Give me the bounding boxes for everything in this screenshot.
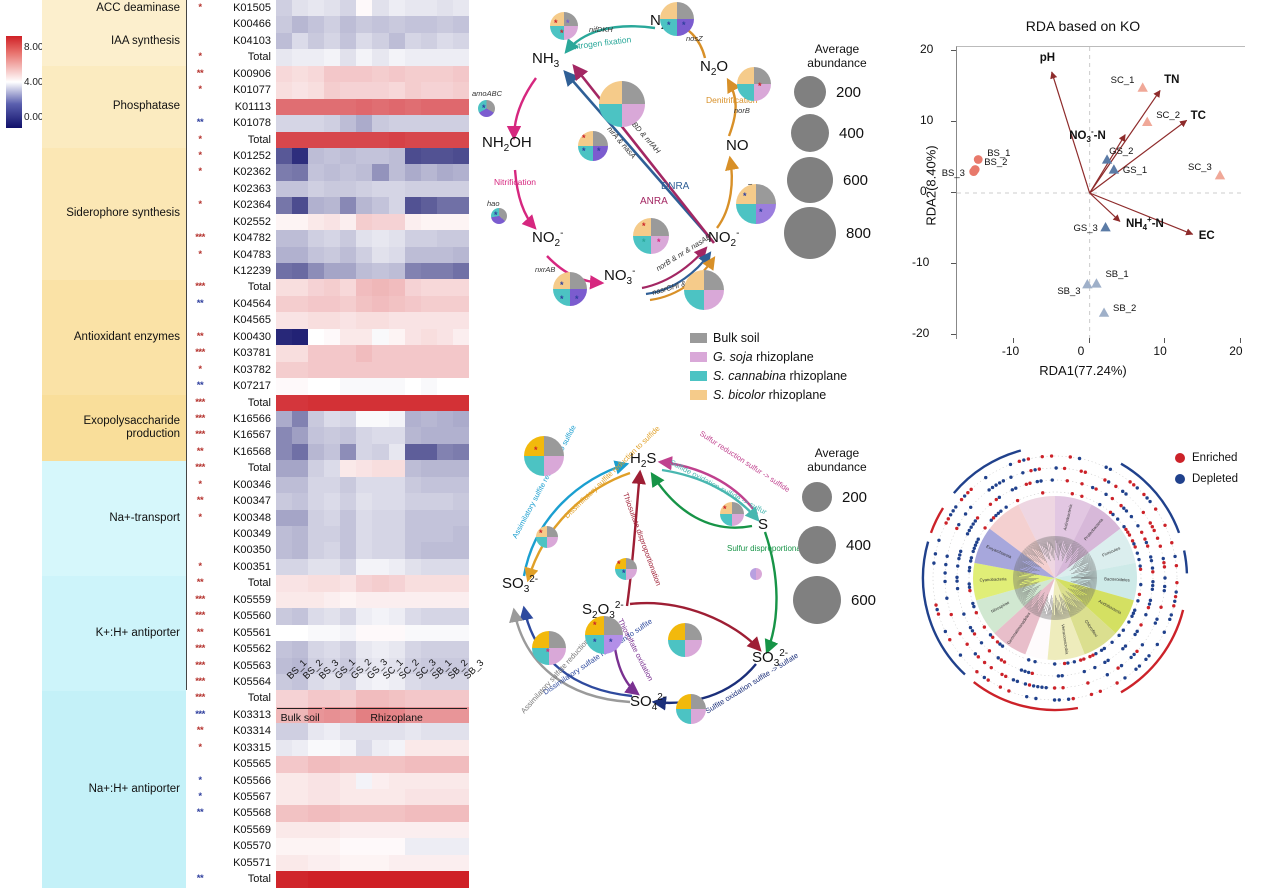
- taxa-color-swatch: [690, 333, 707, 343]
- star-marker: *: [642, 238, 646, 247]
- circ-depleted-dot: [1027, 658, 1030, 661]
- heatmap-cell: [292, 789, 308, 805]
- heatmap-cell: [340, 575, 356, 591]
- heatmap-cell: [340, 132, 356, 148]
- circ-enriched-dot: [1153, 529, 1156, 532]
- rda-sample-point[interactable]: [1091, 278, 1101, 287]
- heatmap-cell: [453, 822, 469, 838]
- heatmap-cell: [389, 575, 405, 591]
- circ-enriched-dot: [960, 498, 963, 501]
- heatmap-cell: [292, 99, 308, 115]
- heatmap-cell: [308, 345, 324, 361]
- heatmap-cell: [276, 66, 292, 82]
- significance-marker: *: [186, 740, 214, 756]
- heatmap-cell: [292, 871, 308, 887]
- star-marker: *: [617, 560, 621, 569]
- circ-depleted-dot: [977, 538, 980, 541]
- heatmap-cell: [389, 740, 405, 756]
- significance-marker: **: [186, 329, 214, 345]
- heatmap-cell: [389, 542, 405, 558]
- circ-depleted-dot: [1136, 599, 1139, 602]
- heatmap-cell: [356, 592, 372, 608]
- circ-depleted-dot: [1024, 682, 1027, 685]
- heatmap-cell: [372, 773, 388, 789]
- heatmap-cell: [356, 132, 372, 148]
- heatmap-cell: [340, 247, 356, 263]
- heatmap-group-na-transport: Na+-transport: [42, 461, 186, 576]
- heatmap-cell: [292, 822, 308, 838]
- circ-enriched-dot: [988, 649, 991, 652]
- heatmap-cell: [372, 263, 388, 279]
- heatmap-cell: [308, 871, 324, 887]
- heatmap-significance-column: ****************************************…: [186, 0, 214, 888]
- heatmap-cell: [340, 362, 356, 378]
- circ-depleted-dot: [1134, 668, 1137, 671]
- circ-enriched-dot: [975, 670, 978, 673]
- ko-label: K04783: [212, 247, 274, 263]
- heatmap-cell: [324, 641, 340, 657]
- circ-depleted-dot: [1033, 660, 1036, 663]
- heatmap-cell: [324, 756, 340, 772]
- heatmap-row: [276, 510, 469, 526]
- significance-marker: *: [186, 197, 214, 213]
- heatmap-cell: [372, 723, 388, 739]
- heatmap-cell: [421, 608, 437, 624]
- heatmap-row: [276, 477, 469, 493]
- circ-depleted-dot: [1110, 641, 1113, 644]
- ko-label: K05569: [212, 822, 274, 838]
- heatmap-cell: [340, 49, 356, 65]
- sulfur-cycle-diagram: H2S S SO32- SO32- S2O32- SO42- Assimilat…: [462, 408, 902, 728]
- significance-marker: [186, 16, 214, 32]
- heatmap-cell: [308, 460, 324, 476]
- heatmap-cell: [324, 838, 340, 854]
- circ-enriched-dot: [1025, 483, 1028, 486]
- circ-depleted-dot: [989, 633, 992, 636]
- heatmap-cell: [340, 723, 356, 739]
- heatmap-cell: [276, 263, 292, 279]
- heatmap-cell: [340, 740, 356, 756]
- circ-depleted-dot: [1034, 697, 1037, 700]
- circ-enriched-dot: [1007, 689, 1010, 692]
- significance-marker: *: [186, 247, 214, 263]
- circ-depleted-dot: [1106, 673, 1109, 676]
- heatmap-cell: [356, 230, 372, 246]
- significance-marker: *: [186, 148, 214, 164]
- heatmap-row: [276, 296, 469, 312]
- significance-marker: *: [186, 362, 214, 378]
- heatmap-cell: [437, 66, 453, 82]
- heatmap-cell: [421, 411, 437, 427]
- heatmap-cell: [405, 427, 421, 443]
- rda-sample-label: SB_2: [1113, 303, 1136, 314]
- heatmap-cell: [405, 99, 421, 115]
- heatmap-cell: [389, 362, 405, 378]
- rda-sample-point[interactable]: [1215, 170, 1225, 179]
- circ-depleted-dot: [1139, 583, 1142, 586]
- heatmap-cell: [356, 164, 372, 180]
- significance-marker: [186, 33, 214, 49]
- circ-depleted-dot: [1100, 649, 1103, 652]
- heatmap-cell: [356, 526, 372, 542]
- heatmap-cell: [389, 230, 405, 246]
- heatmap-cell: [356, 0, 372, 16]
- circ-enriched-dot: [948, 638, 951, 641]
- rda-sample-point[interactable]: [969, 167, 978, 176]
- abundance-value: 200: [836, 84, 861, 101]
- heatmap-cell: [308, 641, 324, 657]
- heatmap-cell: [405, 493, 421, 509]
- heatmap-cell: [437, 493, 453, 509]
- circ-depleted-dot: [1162, 557, 1165, 560]
- rda-sample-point[interactable]: [1137, 82, 1147, 91]
- heatmap-cell: [308, 411, 324, 427]
- heatmap-cell: [308, 49, 324, 65]
- circ-enriched-dot: [1082, 657, 1085, 660]
- circ-depleted-dot: [1168, 618, 1171, 621]
- heatmap-cell: [372, 378, 388, 394]
- heatmap-cell: [308, 542, 324, 558]
- ko-label: K01077: [212, 82, 274, 98]
- node-nh3: NH3: [532, 50, 559, 70]
- circ-depleted-dot: [1133, 633, 1136, 636]
- heatmap-cell: [340, 148, 356, 164]
- circ-depleted-dot: [1036, 685, 1039, 688]
- rda-sample-label: GS_1: [1123, 165, 1147, 176]
- star-marker: *: [560, 295, 564, 304]
- rda-sample-label: SB_3: [1057, 286, 1080, 297]
- circ-enriched-dot: [1071, 492, 1074, 495]
- heatmap-cell: [405, 838, 421, 854]
- heatmap-cell: [372, 805, 388, 821]
- heatmap-cell: [276, 0, 292, 16]
- ko-label: K00466: [212, 16, 274, 32]
- heatmap-cell: [308, 16, 324, 32]
- circ-depleted-dot: [994, 483, 997, 486]
- circ-depleted-dot: [1155, 618, 1158, 621]
- circ-depleted-dot: [1009, 476, 1012, 479]
- star-marker: *: [593, 638, 597, 647]
- circ-legend-depleted: Depleted: [1175, 473, 1238, 485]
- significance-marker: ***: [186, 427, 214, 443]
- heatmap-cell: [308, 164, 324, 180]
- heatmap-row: [276, 838, 469, 854]
- significance-marker: [186, 214, 214, 230]
- heatmap-cell: [292, 296, 308, 312]
- circ-depleted-dot: [1136, 551, 1139, 554]
- heatmap-row: [276, 559, 469, 575]
- heatmap-cell: [389, 345, 405, 361]
- heatmap-cell: [308, 510, 324, 526]
- pie-sulfite-ox: [676, 694, 706, 724]
- pie-sulfur-disp: [750, 568, 762, 580]
- star-marker: *: [657, 238, 661, 247]
- heatmap-cell: [372, 395, 388, 411]
- circ-enriched-dot: [1172, 604, 1175, 607]
- heatmap-cell: [276, 625, 292, 641]
- rda-xtick: 20: [1229, 344, 1242, 358]
- heatmap-cell: [308, 197, 324, 213]
- circ-depleted-dot: [984, 476, 987, 479]
- heatmap-cell: [340, 0, 356, 16]
- circ-enriched-dot: [1126, 530, 1129, 533]
- heatmap-cell: [437, 756, 453, 772]
- heatmap-cell: [421, 115, 437, 131]
- ko-label: K05567: [212, 789, 274, 805]
- ko-total-label: Total: [212, 460, 274, 476]
- heatmap-cell: [340, 395, 356, 411]
- heatmap-cell: [389, 822, 405, 838]
- heatmap-cell: [356, 723, 372, 739]
- heatmap-cell: [276, 411, 292, 427]
- heatmap-cell: [276, 740, 292, 756]
- heatmap-cell: [356, 789, 372, 805]
- heatmap-cell: [389, 723, 405, 739]
- heatmap-cell: [292, 279, 308, 295]
- circ-enriched-dot: [1038, 467, 1041, 470]
- heatmap-cell: [437, 164, 453, 180]
- significance-marker: [186, 181, 214, 197]
- circ-enriched-dot: [977, 655, 980, 658]
- heatmap-cell: [324, 411, 340, 427]
- circ-depleted-dot: [1145, 496, 1148, 499]
- heatmap-cell: [437, 197, 453, 213]
- heatmap-cell: [324, 559, 340, 575]
- circ-depleted-dot: [1132, 653, 1135, 656]
- ko-total-label: Total: [212, 132, 274, 148]
- heatmap-cell: [437, 559, 453, 575]
- heatmap-cell: [276, 378, 292, 394]
- ko-label: K07217: [212, 378, 274, 394]
- circ-enriched-dot: [995, 498, 998, 501]
- pie-amoabc: [478, 100, 495, 117]
- heatmap-cell: [276, 247, 292, 263]
- heatmap-cell: [276, 641, 292, 657]
- heatmap-cell: [292, 362, 308, 378]
- heatmap-cell: [276, 132, 292, 148]
- ko-label: K05560: [212, 608, 274, 624]
- heatmap-cell: [389, 559, 405, 575]
- pie-thiosulfate-ox: [668, 623, 702, 657]
- circ-depleted-dot: [1151, 584, 1154, 587]
- heatmap-cell: [340, 871, 356, 887]
- rda-sample-point[interactable]: [1100, 222, 1110, 231]
- heatmap-cell: [308, 625, 324, 641]
- heatmap-row: [276, 164, 469, 180]
- taxa-legend-item: S. bicolor rhizoplane: [690, 385, 900, 404]
- circ-depleted-dot: [1094, 652, 1097, 655]
- heatmap-cell: [308, 132, 324, 148]
- colorbar-tick-high: 8.00: [24, 42, 43, 53]
- rda-sample-point[interactable]: [974, 155, 983, 164]
- heatmap-cell: [405, 510, 421, 526]
- abundance-value: 600: [843, 172, 868, 189]
- heatmap-cell: [276, 575, 292, 591]
- process-anra: ANRA: [640, 196, 668, 207]
- ko-label: K00430: [212, 329, 274, 345]
- heatmap-cell: [292, 115, 308, 131]
- circ-enriched-dot: [934, 603, 937, 606]
- heatmap-cell: [421, 296, 437, 312]
- ko-label: K03315: [212, 740, 274, 756]
- heatmap-cell: [324, 214, 340, 230]
- abundance-dot: [793, 576, 841, 624]
- rda-sample-point[interactable]: [1142, 117, 1152, 126]
- circ-enriched-dot: [1143, 537, 1146, 540]
- heatmap-cell: [292, 608, 308, 624]
- circ-enriched-dot: [1080, 495, 1083, 498]
- heatmap-cell: [340, 99, 356, 115]
- circ-depleted-dot: [956, 587, 959, 590]
- heatmap-cell: [372, 575, 388, 591]
- circ-depleted-dot: [1039, 479, 1042, 482]
- rda-xaxis-title: RDA1(77.24%): [898, 363, 1268, 378]
- heatmap-cell: [324, 526, 340, 542]
- circ-enriched-dot: [975, 611, 978, 614]
- ko-label: K16567: [212, 427, 274, 443]
- heatmap-cell: [276, 214, 292, 230]
- circ-depleted-dot: [1121, 490, 1124, 493]
- ko-label: K05563: [212, 658, 274, 674]
- heatmap-cell: [389, 181, 405, 197]
- ko-label: K03782: [212, 362, 274, 378]
- significance-marker: **: [186, 115, 214, 131]
- rda-sample-point[interactable]: [1099, 307, 1109, 316]
- heatmap-cell: [356, 559, 372, 575]
- heatmap-cell: [421, 477, 437, 493]
- heatmap-cell: [421, 263, 437, 279]
- circ-depleted-dot: [1083, 670, 1086, 673]
- heatmap-cell: [340, 411, 356, 427]
- heatmap-cell: [324, 312, 340, 328]
- heatmap-cell: [340, 477, 356, 493]
- taxa-color-swatch: [690, 352, 707, 362]
- ko-label: K03313: [212, 707, 274, 723]
- significance-marker: *: [186, 773, 214, 789]
- column-group-bar: [325, 708, 467, 709]
- heatmap-cell: [308, 230, 324, 246]
- star-marker: *: [667, 21, 671, 30]
- circ-depleted-dot: [1173, 555, 1176, 558]
- heatmap-cell: [324, 99, 340, 115]
- heatmap-cell: [276, 197, 292, 213]
- circ-depleted-dot: [1163, 589, 1166, 592]
- heatmap-cell: [437, 542, 453, 558]
- heatmap-row: [276, 773, 469, 789]
- heatmap-cell: [372, 855, 388, 871]
- ko-label: K05562: [212, 641, 274, 657]
- heatmap-cell: [340, 542, 356, 558]
- heatmap-cell: [292, 230, 308, 246]
- heatmap-cell: [405, 49, 421, 65]
- circ-depleted-dot: [1025, 695, 1028, 698]
- heatmap-cell: [356, 296, 372, 312]
- heatmap-row: [276, 542, 469, 558]
- heatmap-cell: [308, 427, 324, 443]
- heatmap-cell: [340, 181, 356, 197]
- heatmap-cell: [292, 214, 308, 230]
- heatmap-cell: [389, 395, 405, 411]
- circ-depleted-dot: [1147, 654, 1150, 657]
- rda-sample-point[interactable]: [1082, 279, 1092, 288]
- circ-depleted-dot: [968, 586, 971, 589]
- circ-depleted-dot: [980, 641, 983, 644]
- circ-depleted-dot: [971, 602, 974, 605]
- rda-ytick: 10: [920, 113, 933, 127]
- heatmap-cell: [276, 444, 292, 460]
- heatmap-cell: [356, 444, 372, 460]
- circ-enriched-dot: [1138, 593, 1141, 596]
- heatmap-cell: [356, 345, 372, 361]
- heatmap-cell: [437, 378, 453, 394]
- circ-depleted-dot: [1021, 471, 1024, 474]
- heatmap-cell: [340, 526, 356, 542]
- taxa-legend-label: G. soja rhizoplane: [713, 350, 814, 364]
- star-marker: *: [575, 295, 579, 304]
- rda-ytick: -10: [912, 255, 929, 269]
- heatmap-cell: [405, 115, 421, 131]
- circ-depleted-dot: [973, 547, 976, 550]
- heatmap-cell: [324, 608, 340, 624]
- depleted-label: Depleted: [1192, 473, 1238, 485]
- column-group-label: Bulk soil: [276, 712, 324, 724]
- ko-label: K05565: [212, 756, 274, 772]
- heatmap-cell: [308, 362, 324, 378]
- heatmap-cell: [356, 871, 372, 887]
- significance-marker: *: [186, 49, 214, 65]
- circ-enriched-dot: [937, 612, 940, 615]
- heatmap-cell: [389, 805, 405, 821]
- circ-depleted-dot: [1033, 468, 1036, 471]
- ko-label: K05564: [212, 674, 274, 690]
- abundance-dot: [787, 157, 833, 203]
- circ-depleted-dot: [1133, 609, 1136, 612]
- heatmap-cell: [340, 263, 356, 279]
- heatmap-cell: [276, 312, 292, 328]
- circ-enriched-dot: [1128, 480, 1131, 483]
- heatmap-cell: [372, 460, 388, 476]
- heatmap-cell: [356, 427, 372, 443]
- heatmap-cell: [308, 279, 324, 295]
- heatmap-cell: [372, 164, 388, 180]
- heatmap-cell: [389, 49, 405, 65]
- n-abundance-legend-row: 400: [791, 114, 864, 152]
- circ-enriched-dot: [1159, 545, 1162, 548]
- heatmap-row: [276, 0, 469, 16]
- abundance-value: 400: [839, 125, 864, 142]
- circ-depleted-dot: [1135, 630, 1138, 633]
- heatmap-cell: [308, 723, 324, 739]
- node-no2-left: NO2-: [532, 228, 563, 249]
- heatmap-cell: [276, 822, 292, 838]
- heatmap-cell: [372, 493, 388, 509]
- heatmap-cell: [421, 197, 437, 213]
- circ-enriched-dot: [1131, 539, 1134, 542]
- heatmap-row: [276, 66, 469, 82]
- heatmap-cell: [292, 148, 308, 164]
- circ-enriched-dot: [1175, 564, 1178, 567]
- heatmap-row: [276, 427, 469, 443]
- rda-sample-point[interactable]: [1109, 164, 1119, 173]
- heatmap-cell: [437, 329, 453, 345]
- n-abundance-legend-row: 600: [787, 157, 868, 203]
- heatmap-cell: [389, 871, 405, 887]
- circular-phylogeny-panel: ActinobacteriaProteobacteriaFirmicutesBa…: [920, 420, 1268, 728]
- heatmap-cell: [421, 871, 437, 887]
- heatmap-cell: [421, 723, 437, 739]
- significance-marker: *: [186, 132, 214, 148]
- rda-ytick-mark: [951, 334, 956, 335]
